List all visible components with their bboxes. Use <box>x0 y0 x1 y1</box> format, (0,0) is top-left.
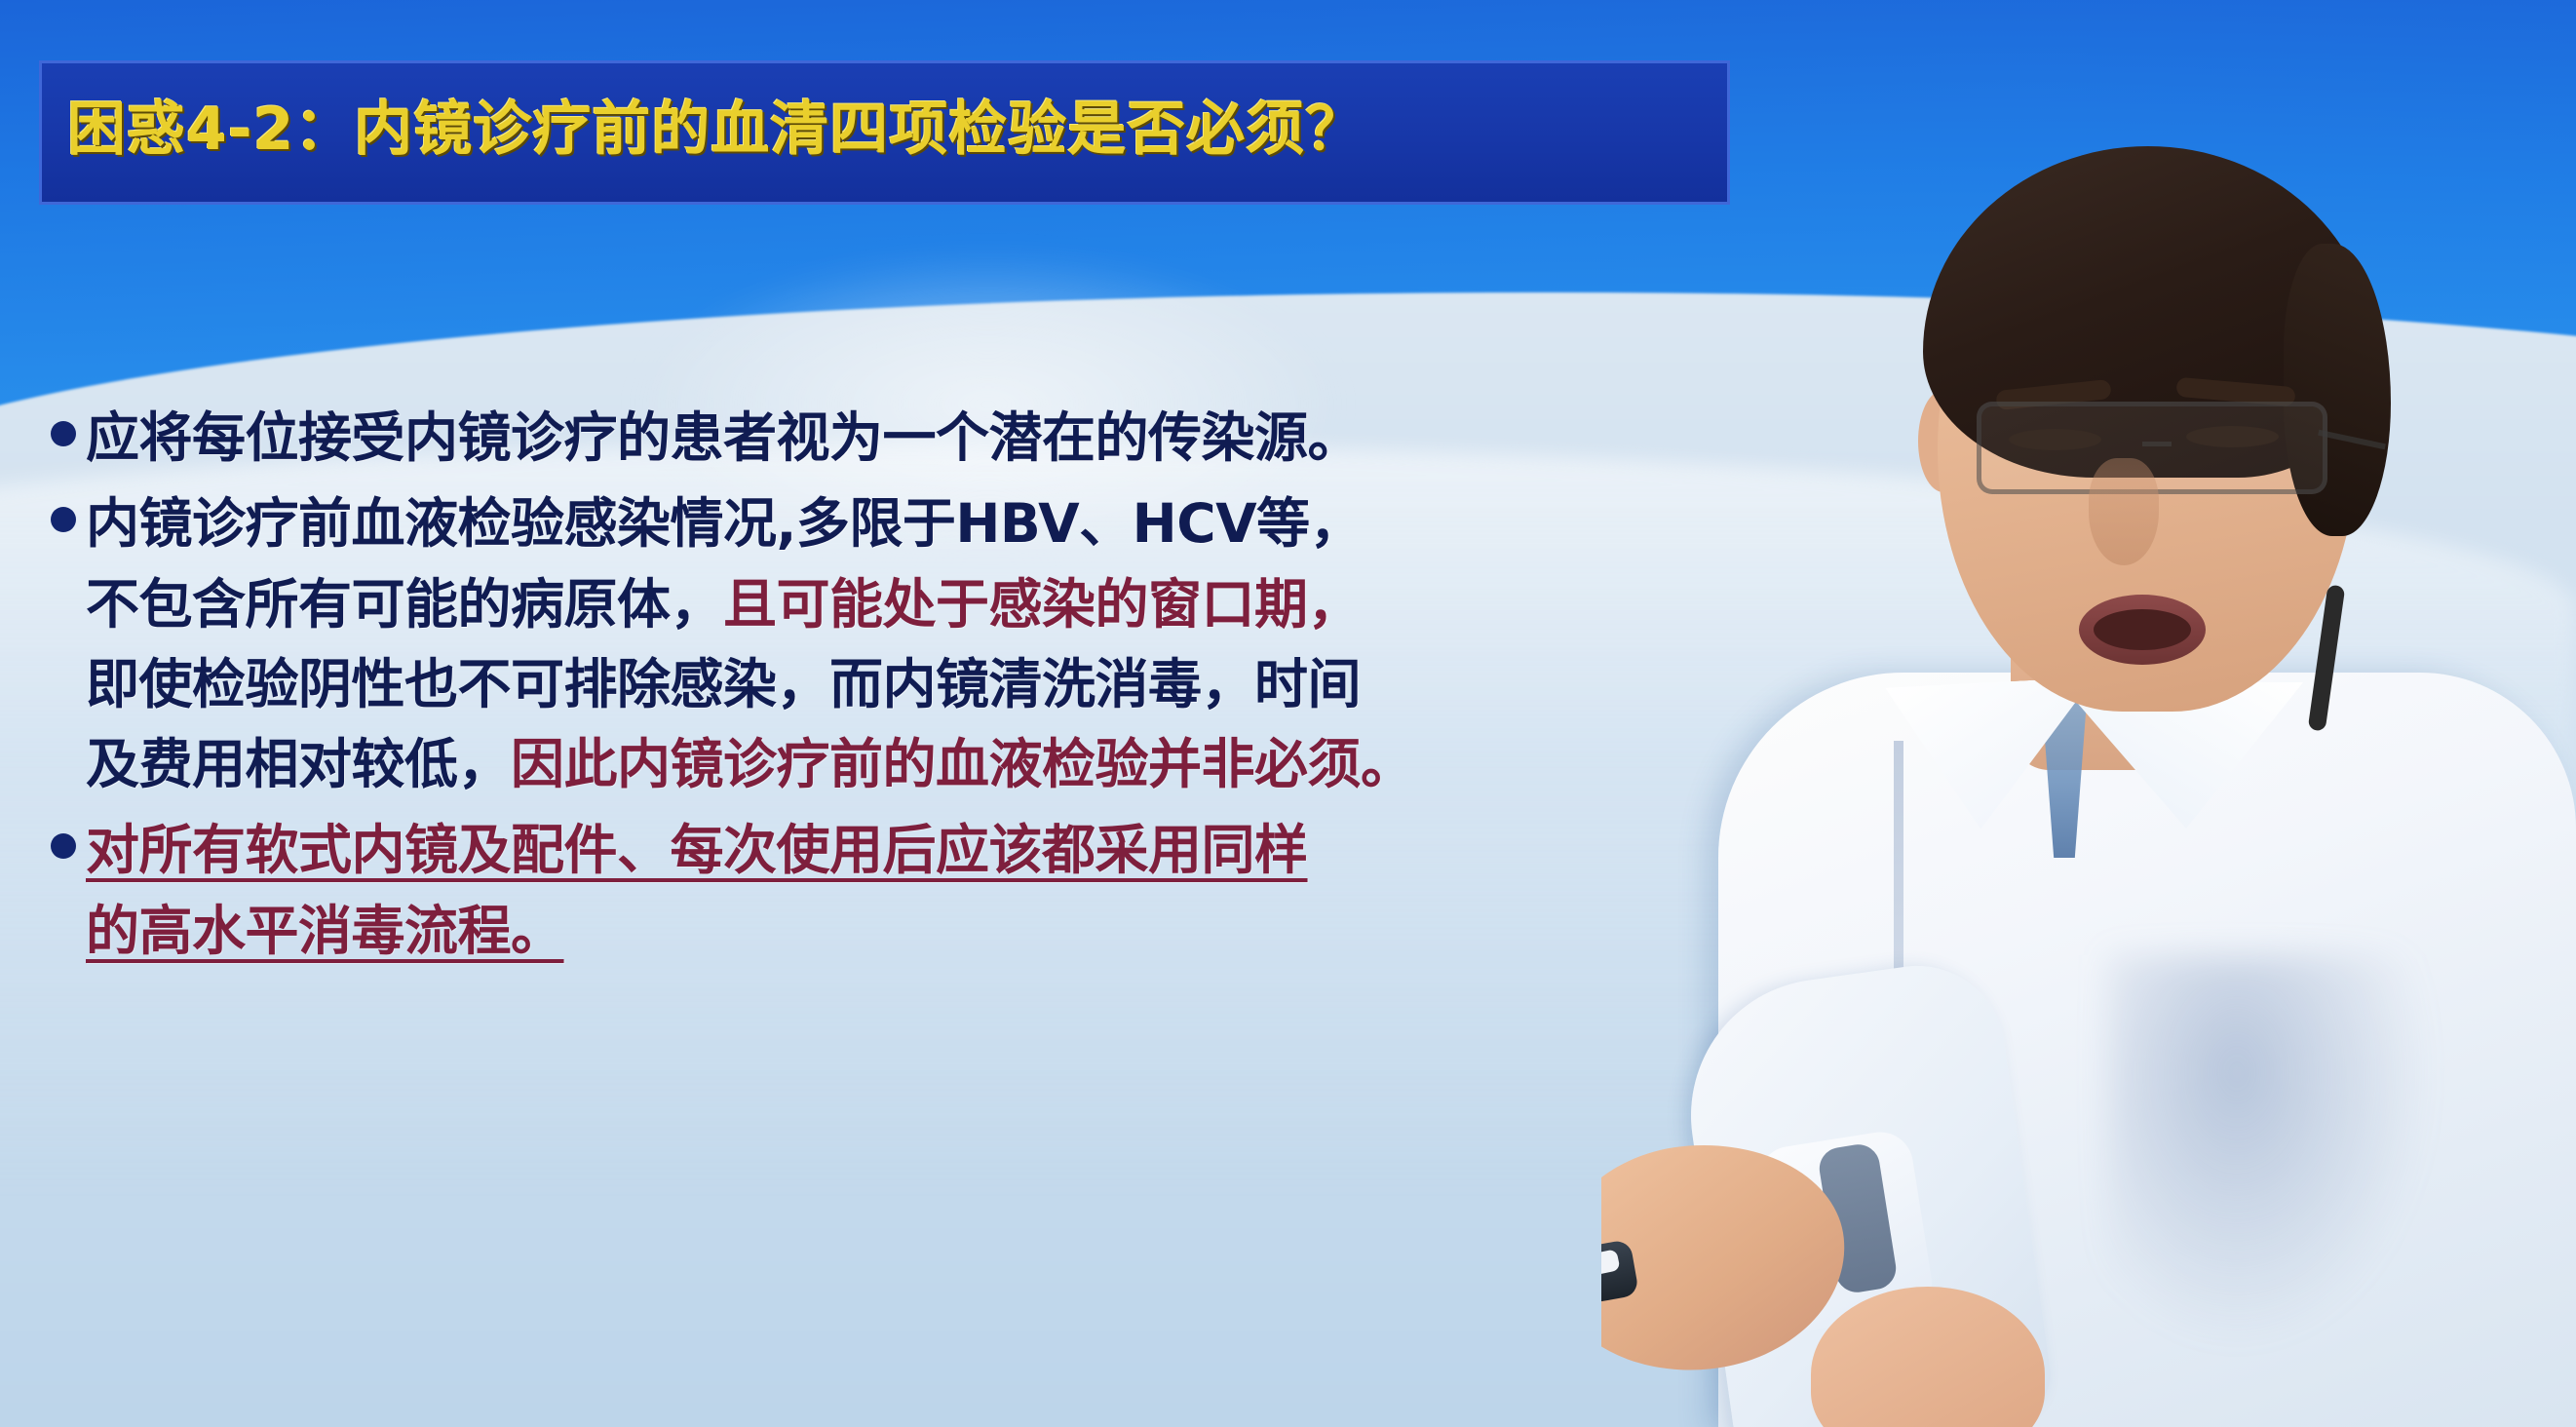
slide-text-segment: 对所有软式内镜及配件、每次使用后应该都采用同样 <box>86 822 1308 878</box>
slide-body: 应将每位接受内镜诊疗的患者视为一个潜在的传染源。内镜诊疗前血液检验感染情况,多限… <box>51 409 1747 988</box>
video-frame: 困惑4-2：内镜诊疗前的血清四项检验是否必须？ 应将每位接受内镜诊疗的患者视为一… <box>0 0 2576 1427</box>
presenter-nose <box>2089 458 2159 565</box>
slide-body-line: 不包含所有可能的病原体，且可能处于感染的窗口期， <box>51 576 1747 633</box>
slide-text-segment: 的高水平消毒流程。 <box>86 903 564 959</box>
presenter-shirt-shadow <box>2108 955 2430 1345</box>
slide-body-line: 即使检验阴性也不可排除感染，而内镜清洗消毒，时间 <box>51 656 1747 713</box>
slide-body-line: 应将每位接受内镜诊疗的患者视为一个潜在的传染源。 <box>51 409 1747 466</box>
presenter-mouth-inner <box>2094 609 2191 650</box>
slide-text-segment: 应将每位接受内镜诊疗的患者视为一个潜在的传染源。 <box>86 409 1361 466</box>
page-title: 困惑4-2：内镜诊疗前的血清四项检验是否必须？ <box>67 97 1365 163</box>
bullet-dot-icon <box>51 421 76 446</box>
slide-text-segment: 内镜诊疗前血液检验感染情况,多限于HBV、HCV等， <box>86 495 1363 552</box>
slide-text-segment: 不包含所有可能的病原体， <box>86 576 723 633</box>
slide-text-segment: 即使检验阴性也不可排除感染，而内镜清洗消毒，时间 <box>86 656 1361 713</box>
slide-text-segment: 且可能处于感染的窗口期， <box>723 576 1361 633</box>
slide-body-line: 对所有软式内镜及配件、每次使用后应该都采用同样 <box>51 822 1747 878</box>
slide-body-line: 内镜诊疗前血液检验感染情况,多限于HBV、HCV等， <box>51 495 1747 552</box>
slide-text-segment: 因此内镜诊疗前的血液检验并非必须。 <box>511 736 1414 792</box>
slide-text-segment: 及费用相对较低， <box>86 736 511 792</box>
slide-title-box: 困惑4-2：内镜诊疗前的血清四项检验是否必须？ <box>39 60 1730 205</box>
slide-body-line: 的高水平消毒流程。 <box>51 903 1747 959</box>
slide-body-line: 及费用相对较低，因此内镜诊疗前的血液检验并非必须。 <box>51 736 1747 792</box>
presenter-figure <box>1601 0 2576 1427</box>
bullet-dot-icon <box>51 833 76 859</box>
bullet-dot-icon <box>51 507 76 532</box>
